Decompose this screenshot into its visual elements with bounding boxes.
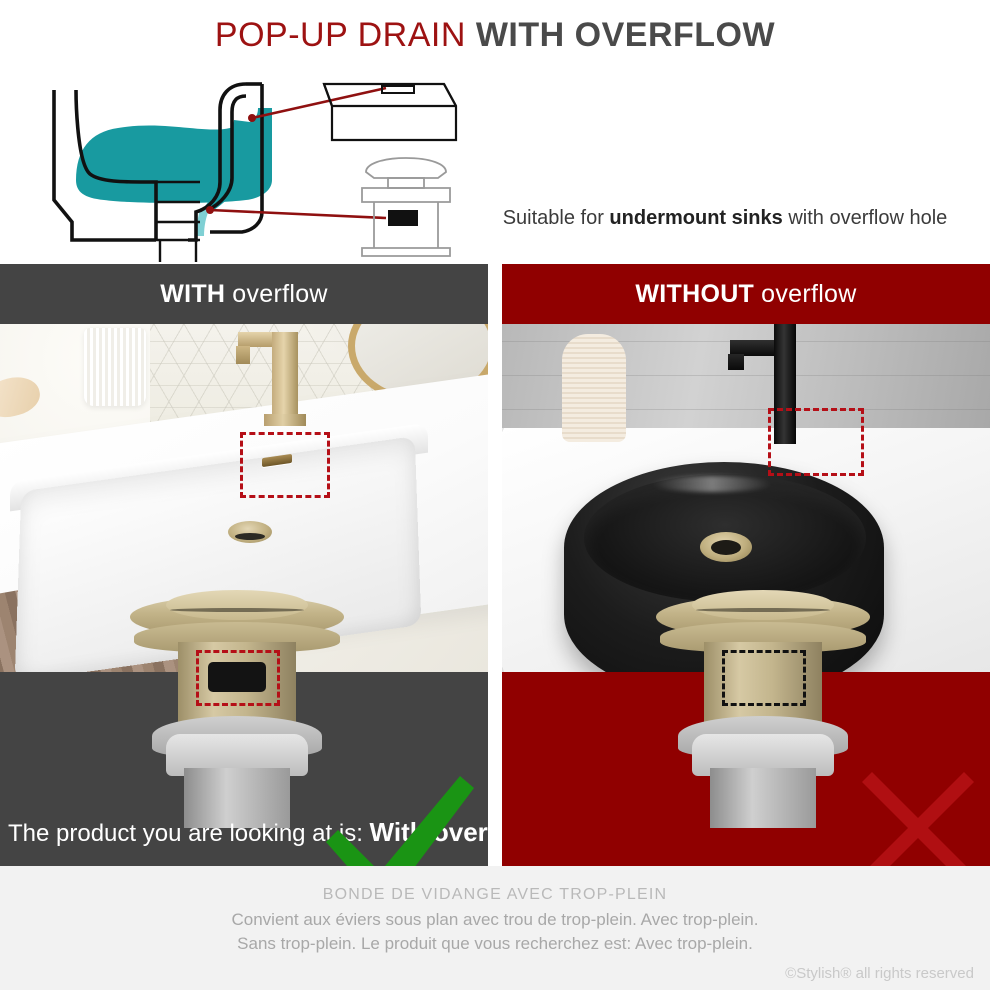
missing-overflow-highlight-box <box>768 408 864 476</box>
comparison-panels: WITHoverflow <box>0 264 990 866</box>
overflow-hole-highlight-box <box>240 432 330 498</box>
callout-line-top <box>252 88 386 118</box>
product-statement: The product you are looking at is: With … <box>8 817 480 848</box>
sink-drain <box>228 521 272 543</box>
drain-tailpiece <box>710 768 816 828</box>
suitable-caption: Suitable for undermount sinks with overf… <box>470 207 980 230</box>
ribbed-vase <box>84 328 146 406</box>
title-part-red: POP-UP DRAIN <box>215 16 466 54</box>
callout-dot-top <box>248 114 256 122</box>
panel-right-header-light: overflow <box>761 280 857 309</box>
panel-right-header: WITHOUToverflow <box>502 264 990 324</box>
vessel-sink-highlight <box>652 476 772 492</box>
vessel-sink-drain <box>700 532 752 562</box>
footer-line1-fr: Convient aux éviers sous plan avec trou … <box>0 910 990 930</box>
suitable-suffix: with overflow hole <box>783 207 948 229</box>
drain-closeup-with-overflow <box>122 592 352 822</box>
drain-cap-top <box>166 590 308 620</box>
hero-diagram: Suitable for undermount sinks with overf… <box>0 62 990 262</box>
drain-cap-seam <box>170 608 304 612</box>
panel-right-bottom-strip <box>502 672 990 866</box>
callout-dot-bottom <box>206 206 214 214</box>
infographic-page: POP-UP DRAIN WITH OVERFLOW <box>0 0 990 990</box>
panel-left-bottom-strip: The product you are looking at is: With … <box>0 672 488 866</box>
panel-with-overflow: WITHoverflow <box>0 264 488 866</box>
faucet-tip <box>236 346 250 364</box>
panel-left-header-light: overflow <box>232 280 328 309</box>
drain-slot-highlight-box <box>196 650 280 706</box>
footer-french-text: BONDE DE VIDANGE AVEC TROP-PLEIN Convien… <box>0 866 990 990</box>
drain-closeup-without-overflow <box>648 592 878 822</box>
copyright-notice: ©Stylish® all rights reserved <box>785 965 974 982</box>
drain-no-slot-highlight-box <box>722 650 806 706</box>
suitable-bold: undermount sinks <box>609 207 782 229</box>
sink-cross-section-svg <box>14 62 474 262</box>
panel-left-header: WITHoverflow <box>0 264 488 324</box>
product-statement-strong: With overflow <box>370 817 488 847</box>
footer-line2-fr: Sans trop-plein. Le produit que vous rec… <box>0 934 990 954</box>
panel-right-header-strong: WITHOUT <box>635 280 754 309</box>
drain-overflow-slot-icon <box>388 210 418 226</box>
panel-without-overflow: WITHOUToverflow <box>502 264 990 866</box>
pop-up-drain-line-drawing <box>362 158 450 256</box>
callout-line-bottom <box>210 210 386 218</box>
faucet-body <box>272 332 298 418</box>
title-part-dark: WITH OVERFLOW <box>476 16 775 54</box>
black-faucet-tip <box>728 354 744 370</box>
suitable-prefix: Suitable for <box>503 207 610 229</box>
footer-title-fr: BONDE DE VIDANGE AVEC TROP-PLEIN <box>0 886 990 904</box>
product-statement-prefix: The product you are looking at is: <box>8 820 370 847</box>
faucet-base <box>264 414 306 426</box>
drain-cap-top <box>692 590 834 620</box>
drain-cap-seam <box>696 608 830 612</box>
page-title: POP-UP DRAIN WITH OVERFLOW <box>0 16 990 55</box>
sink-basin-line-drawing <box>324 84 456 140</box>
panel-left-header-strong: WITH <box>160 280 225 309</box>
textured-vase <box>562 334 626 442</box>
